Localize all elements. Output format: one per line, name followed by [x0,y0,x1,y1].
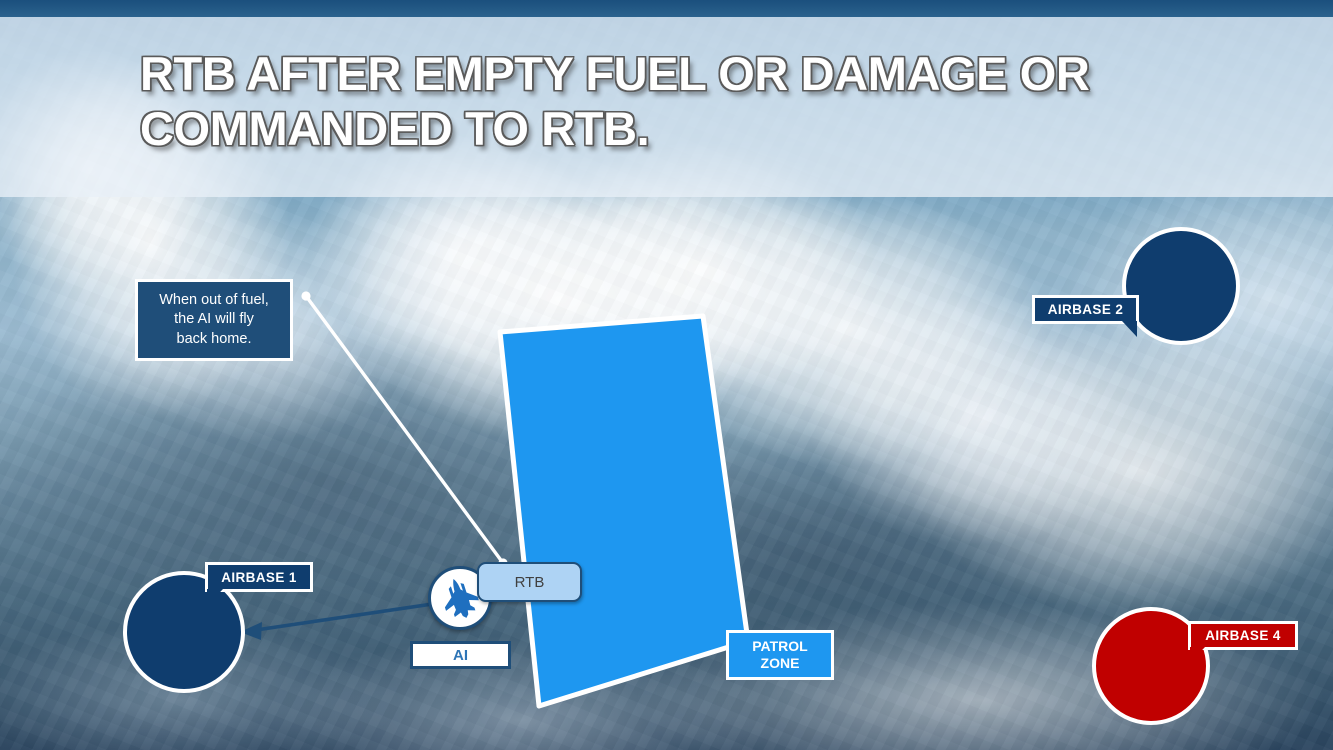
airbase-1-label-tail [207,589,223,606]
ai-agent-label[interactable]: AI [410,641,511,669]
airbase-4-label-tail [1190,647,1205,663]
airbase-4-label[interactable]: AIRBASE 4 [1188,621,1298,650]
callout-text: When out of fuel, the AI will fly back h… [159,291,269,348]
airbase-1-label[interactable]: AIRBASE 1 [205,562,313,592]
rtb-action-text: RTB [515,574,545,591]
airbase-2-marker[interactable] [1122,227,1240,345]
airbase-4-label-text: AIRBASE 4 [1205,628,1281,643]
rtb-action-box[interactable]: RTB [477,562,582,602]
callout-box[interactable]: When out of fuel, the AI will fly back h… [135,279,293,361]
page-title: RTB AFTER EMPTY FUEL OR DAMAGE OR COMMAN… [140,47,1210,156]
patrol-zone-label-text: PATROL ZONE [752,638,807,673]
slide-canvas: RTB AFTER EMPTY FUEL OR DAMAGE OR COMMAN… [0,0,1333,750]
patrol-zone-label[interactable]: PATROL ZONE [726,630,834,680]
airbase-2-label[interactable]: AIRBASE 2 [1032,295,1139,324]
ai-agent-label-text: AI [453,647,468,664]
airbase-2-label-tail [1122,321,1137,337]
top-sky-band [0,0,1333,17]
airbase-1-label-text: AIRBASE 1 [221,570,297,585]
airbase-2-label-text: AIRBASE 2 [1048,302,1124,317]
